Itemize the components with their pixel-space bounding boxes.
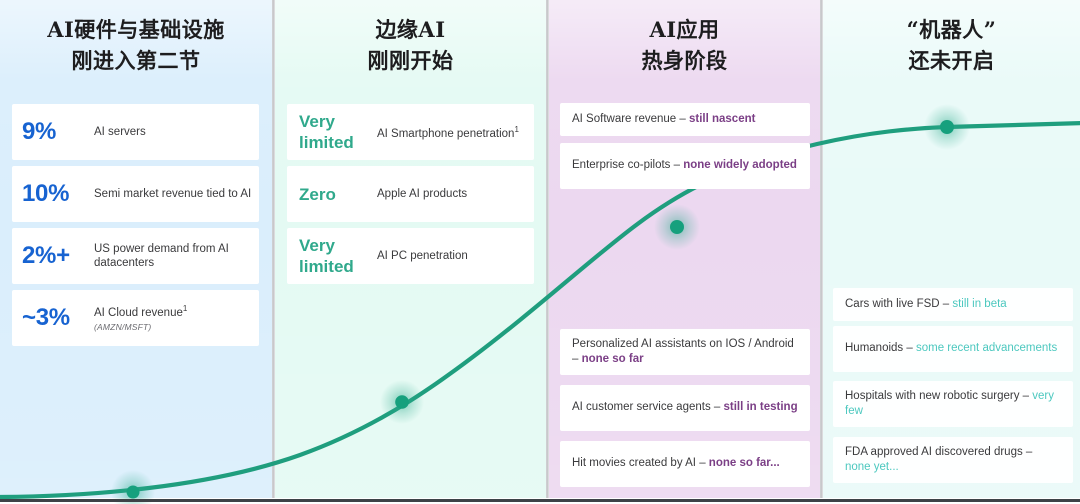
list-item[interactable]: Enterprise co-pilots – none widely adopt… bbox=[560, 143, 810, 189]
list-item[interactable]: FDA approved AI discovered drugs – none … bbox=[833, 437, 1073, 483]
item-text: Cars with live FSD – still in beta bbox=[845, 297, 1007, 313]
item-lead: Hospitals with new robotic surgery – bbox=[845, 390, 1032, 402]
stat-label-text: Semi market revenue tied to AI bbox=[94, 188, 251, 200]
item-text: Personalized AI assistants on IOS / Andr… bbox=[572, 337, 798, 368]
stat-sublabel: (AMZN/MSFT) bbox=[94, 320, 187, 334]
list-item[interactable]: Cars with live FSD – still in beta bbox=[833, 288, 1073, 321]
edge-label-text: AI Smartphone penetration bbox=[377, 128, 514, 140]
item-lead: AI customer service agents – bbox=[572, 401, 723, 413]
baseline-axis bbox=[0, 499, 1080, 502]
stat-value: 9% bbox=[22, 118, 94, 146]
column-heading-hardware: AI硬件与基础设施 刚进入第二节 bbox=[0, 14, 272, 76]
item-accent: none widely adopted bbox=[683, 159, 797, 171]
item-accent: none so far bbox=[582, 353, 644, 365]
footnote-marker: 1 bbox=[183, 304, 187, 313]
item-lead: Hit movies created by AI – bbox=[572, 457, 709, 469]
item-accent: still in beta bbox=[952, 298, 1006, 310]
item-text: Hospitals with new robotic surgery – ver… bbox=[845, 389, 1061, 420]
heading-line-1: 边缘AI bbox=[275, 14, 546, 45]
list-item[interactable]: Hospitals with new robotic surgery – ver… bbox=[833, 381, 1073, 427]
stat-label: Semi market revenue tied to AI bbox=[94, 187, 257, 201]
stat-card[interactable]: 10% Semi market revenue tied to AI bbox=[12, 166, 259, 222]
stat-label: US power demand from AI datacenters bbox=[94, 242, 259, 270]
column-heading-ai-applications: AI应用 热身阶段 bbox=[549, 14, 820, 76]
stat-label-text: AI Cloud revenue bbox=[94, 307, 183, 319]
heading-line-2: 还未开启 bbox=[823, 45, 1080, 76]
list-item[interactable]: Hit movies created by AI – none so far..… bbox=[560, 441, 810, 487]
edge-label-text: Apple AI products bbox=[377, 188, 467, 200]
list-item[interactable]: Personalized AI assistants on IOS / Andr… bbox=[560, 329, 810, 375]
item-lead: Enterprise co-pilots – bbox=[572, 159, 683, 171]
edge-card[interactable]: Very limited AI PC penetration bbox=[287, 228, 534, 284]
stat-label: AI servers bbox=[94, 125, 152, 139]
item-accent: none so far... bbox=[709, 457, 780, 469]
edge-label: AI PC penetration bbox=[377, 249, 476, 263]
stat-value: 2%+ bbox=[22, 242, 94, 270]
heading-line-2: 刚刚开始 bbox=[275, 45, 546, 76]
list-item[interactable]: AI Software revenue – still nascent bbox=[560, 103, 810, 136]
stat-card[interactable]: 9% AI servers bbox=[12, 104, 259, 160]
item-accent: none yet... bbox=[845, 461, 899, 473]
edge-label: Apple AI products bbox=[377, 187, 475, 201]
edge-value: Zero bbox=[299, 184, 377, 205]
heading-line-2: 刚进入第二节 bbox=[0, 45, 272, 76]
footnote-marker: 1 bbox=[514, 125, 518, 134]
list-item[interactable]: Humanoids – some recent advancements bbox=[833, 326, 1073, 372]
stat-card[interactable]: ~3% AI Cloud revenue1 (AMZN/MSFT) bbox=[12, 290, 259, 346]
item-text: Humanoids – some recent advancements bbox=[845, 341, 1057, 357]
item-accent: still in testing bbox=[723, 401, 797, 413]
heading-line-1: “机器人” bbox=[823, 14, 1080, 45]
stat-value: ~3% bbox=[22, 304, 94, 332]
heading-line-1: AI硬件与基础设施 bbox=[0, 14, 272, 45]
stat-value: 10% bbox=[22, 180, 94, 208]
stat-label-text: US power demand from AI datacenters bbox=[94, 243, 229, 269]
item-lead: FDA approved AI discovered drugs – bbox=[845, 446, 1032, 458]
stat-card[interactable]: 2%+ US power demand from AI datacenters bbox=[12, 228, 259, 284]
heading-line-2: 热身阶段 bbox=[549, 45, 820, 76]
item-accent: some recent advancements bbox=[916, 342, 1057, 354]
edge-value: Very limited bbox=[299, 111, 377, 153]
list-item[interactable]: AI customer service agents – still in te… bbox=[560, 385, 810, 431]
item-lead: Humanoids – bbox=[845, 342, 916, 354]
item-text: Enterprise co-pilots – none widely adopt… bbox=[572, 158, 797, 174]
item-accent: still nascent bbox=[689, 113, 755, 125]
item-text: Hit movies created by AI – none so far..… bbox=[572, 456, 780, 472]
edge-value: Very limited bbox=[299, 235, 377, 277]
s-curve-infographic: AI硬件与基础设施 刚进入第二节 边缘AI 刚刚开始 AI应用 热身阶段 “机器… bbox=[0, 0, 1080, 504]
item-lead: AI Software revenue – bbox=[572, 113, 689, 125]
edge-card[interactable]: Zero Apple AI products bbox=[287, 166, 534, 222]
item-lead: Cars with live FSD – bbox=[845, 298, 952, 310]
item-text: FDA approved AI discovered drugs – none … bbox=[845, 445, 1061, 476]
item-text: AI Software revenue – still nascent bbox=[572, 112, 755, 128]
stat-label-text: AI servers bbox=[94, 126, 146, 138]
edge-card[interactable]: Very limited AI Smartphone penetration1 bbox=[287, 104, 534, 160]
edge-label: AI Smartphone penetration1 bbox=[377, 123, 527, 141]
column-heading-edge-ai: 边缘AI 刚刚开始 bbox=[275, 14, 546, 76]
item-text: AI customer service agents – still in te… bbox=[572, 400, 798, 416]
stat-label: AI Cloud revenue1 (AMZN/MSFT) bbox=[94, 302, 193, 334]
column-heading-robots: “机器人” 还未开启 bbox=[823, 14, 1080, 76]
edge-label-text: AI PC penetration bbox=[377, 250, 468, 262]
heading-line-1: AI应用 bbox=[549, 14, 820, 45]
